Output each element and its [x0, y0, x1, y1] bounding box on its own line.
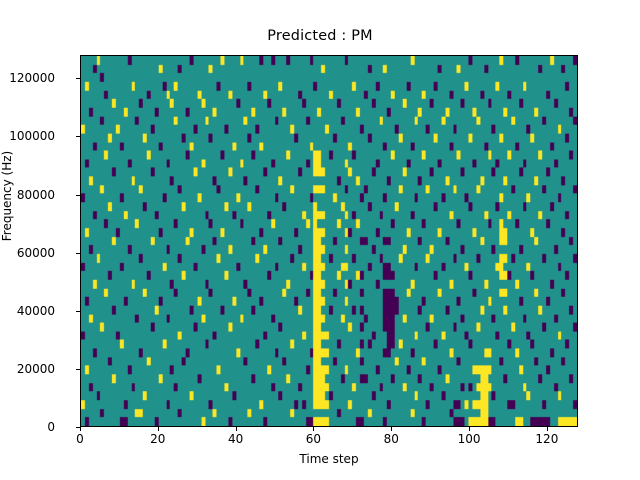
- plot-area: [80, 55, 578, 427]
- x-tick-label: 100: [439, 432, 499, 446]
- x-tick-label: 80: [361, 432, 421, 446]
- x-tick-mark: [469, 427, 470, 431]
- x-tick-mark: [391, 427, 392, 431]
- y-tick-label: 60000: [0, 247, 55, 259]
- x-tick-label: 0: [50, 432, 110, 446]
- x-tick-mark: [547, 427, 548, 431]
- heatmap-canvas: [81, 56, 577, 426]
- y-tick-label: 20000: [0, 363, 55, 375]
- y-tick-label: 100000: [0, 130, 55, 142]
- y-tick-label: 40000: [0, 305, 55, 317]
- x-tick-label: 40: [206, 432, 266, 446]
- x-tick-label: 20: [128, 432, 188, 446]
- y-tick-label: 80000: [0, 189, 55, 201]
- x-tick-label: 60: [283, 432, 343, 446]
- chart-title: Predicted : PM: [0, 28, 640, 44]
- x-tick-mark: [158, 427, 159, 431]
- x-axis-label: Time step: [80, 452, 578, 466]
- x-tick-mark: [236, 427, 237, 431]
- x-tick-mark: [313, 427, 314, 431]
- y-tick-label: 0: [0, 421, 55, 433]
- matplotlib-figure: Predicted : PM Frequency (Hz) 0200004000…: [0, 0, 640, 480]
- x-tick-mark: [80, 427, 81, 431]
- x-tick-label: 120: [517, 432, 577, 446]
- y-tick-label: 120000: [0, 72, 55, 84]
